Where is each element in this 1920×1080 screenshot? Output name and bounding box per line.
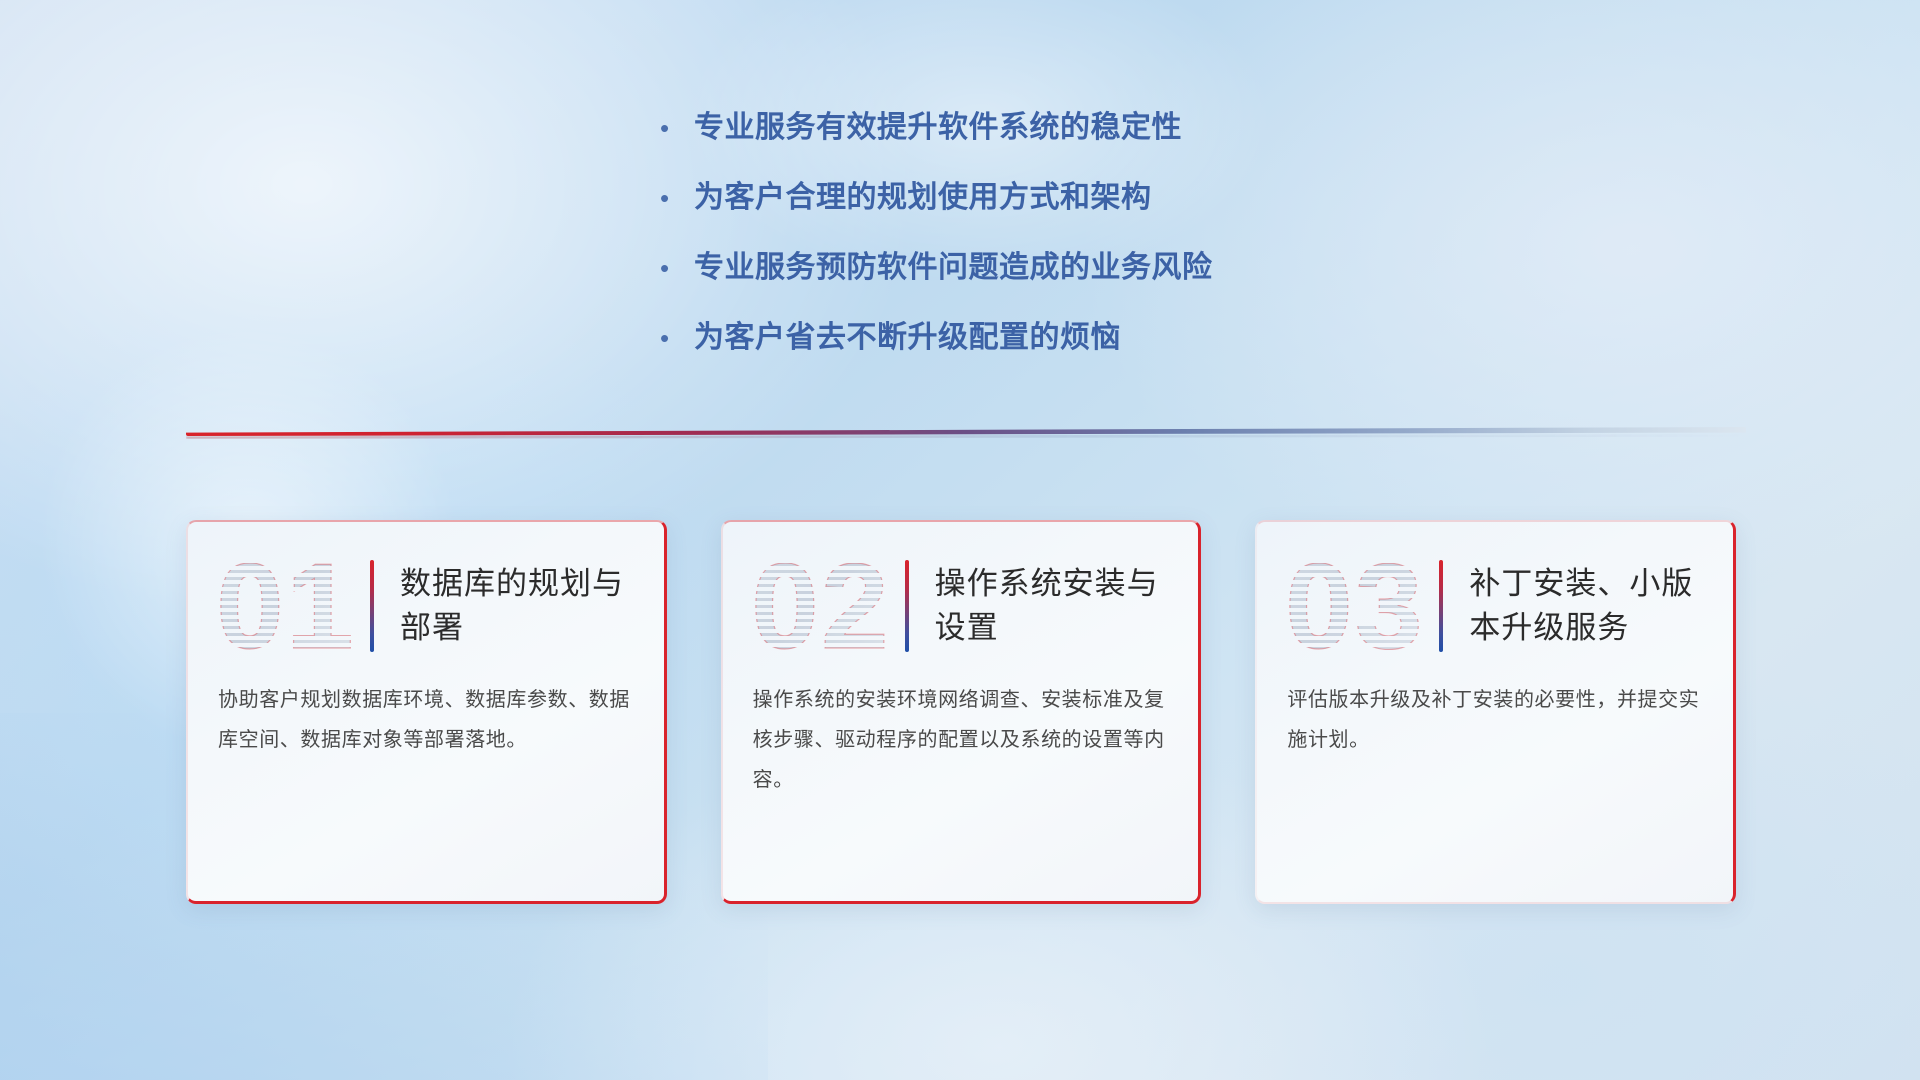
card-body-text: 评估版本升级及补丁安装的必要性，并提交实施计划。 (1255, 670, 1736, 760)
bullet-dot-icon: • (660, 108, 694, 148)
service-card-group: 01 01 数据库的规划与部署 协助客户规划数据库环境、数据库参数、数据库空间、… (186, 520, 1736, 904)
service-card-01[interactable]: 01 01 数据库的规划与部署 协助客户规划数据库环境、数据库参数、数据库空间、… (186, 520, 667, 904)
bullet-text: 专业服务预防软件问题造成的业务风险 (694, 248, 1213, 288)
bullet-dot-icon: • (660, 178, 694, 218)
bullet-dot-icon: • (660, 318, 694, 358)
card-accent-bar (1439, 560, 1443, 652)
card-title: 补丁安装、小版本升级服务 (1469, 562, 1710, 650)
bullet-dot-icon: • (660, 248, 694, 288)
list-item: • 专业服务有效提升软件系统的稳定性 (660, 108, 1420, 148)
svg-text:03: 03 (1285, 542, 1425, 670)
section-divider (186, 427, 1746, 441)
card-title: 操作系统安装与设置 (935, 562, 1176, 650)
svg-text:01: 01 (216, 542, 356, 670)
card-body-text: 协助客户规划数据库环境、数据库参数、数据库空间、数据库对象等部署落地。 (186, 670, 667, 760)
card-accent-bar (370, 560, 374, 652)
bullet-text: 为客户合理的规划使用方式和架构 (694, 178, 1152, 218)
list-item: • 为客户省去不断升级配置的烦恼 (660, 318, 1420, 358)
service-card-02[interactable]: 02 02 操作系统安装与设置 操作系统的安装环境网络调查、安装标准及复核步骤、… (721, 520, 1202, 904)
card-number-hatched: 03 03 (1281, 542, 1433, 670)
benefits-bullet-list: • 专业服务有效提升软件系统的稳定性 • 为客户合理的规划使用方式和架构 • 专… (660, 108, 1420, 358)
list-item: • 专业服务预防软件问题造成的业务风险 (660, 248, 1420, 288)
bullet-text: 专业服务有效提升软件系统的稳定性 (694, 108, 1182, 148)
card-header: 01 01 数据库的规划与部署 (186, 520, 667, 670)
list-item: • 为客户合理的规划使用方式和架构 (660, 178, 1420, 218)
svg-text:02: 02 (751, 542, 891, 670)
card-title: 数据库的规划与部署 (400, 562, 641, 650)
card-number-hatched: 02 02 (747, 542, 899, 670)
card-body-text: 操作系统的安装环境网络调查、安装标准及复核步骤、驱动程序的配置以及系统的设置等内… (721, 670, 1202, 800)
bullet-text: 为客户省去不断升级配置的烦恼 (694, 318, 1121, 358)
card-header: 02 02 操作系统安装与设置 (721, 520, 1202, 670)
card-number-hatched: 01 01 (212, 542, 364, 670)
card-accent-bar (905, 560, 909, 652)
card-header: 03 03 补丁安装、小版本升级服务 (1255, 520, 1736, 670)
service-card-03[interactable]: 03 03 补丁安装、小版本升级服务 评估版本升级及补丁安装的必要性，并提交实施… (1255, 520, 1736, 904)
